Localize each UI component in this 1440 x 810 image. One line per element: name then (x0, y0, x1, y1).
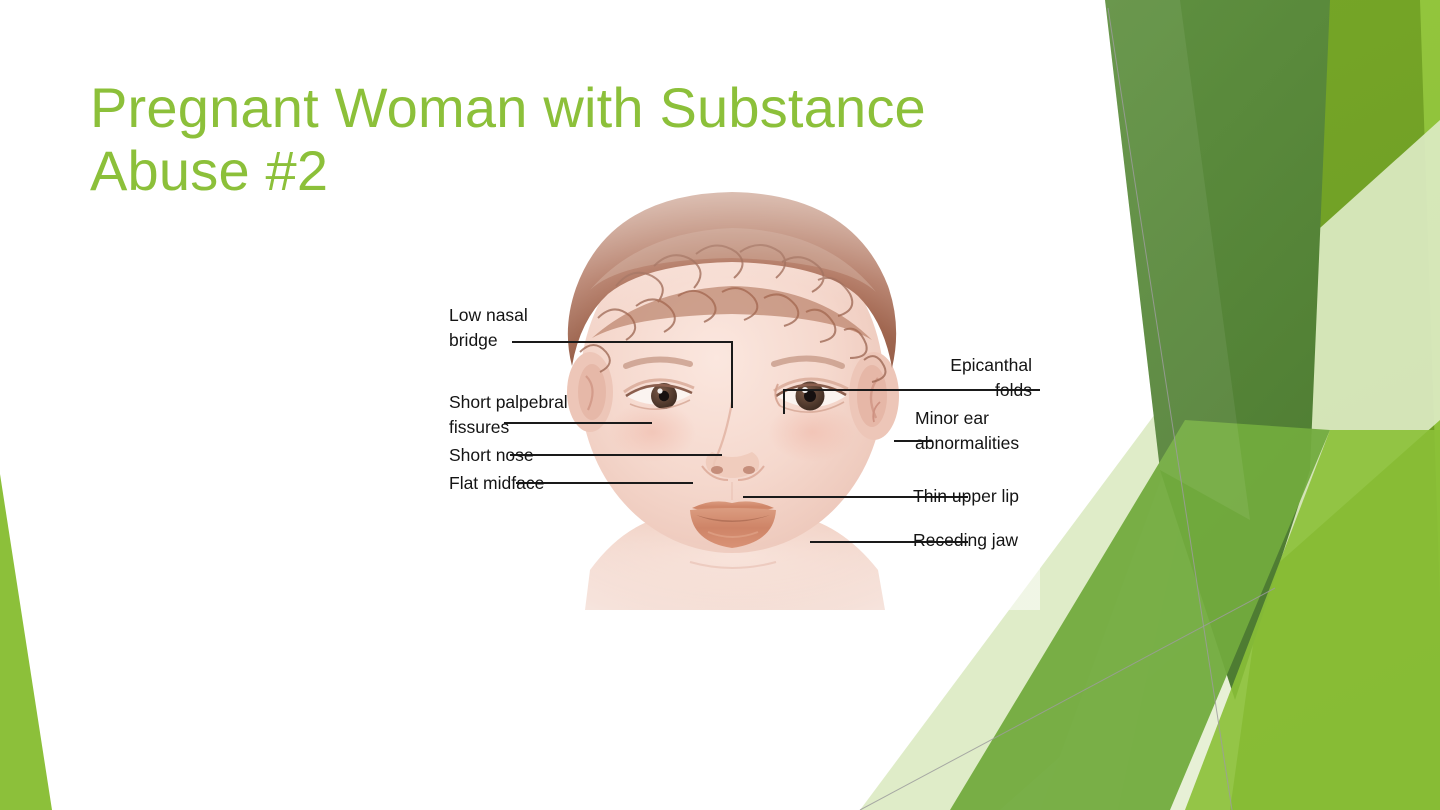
deco-shape-right-bright-far (1196, 0, 1440, 810)
label-receding-jaw: Receding jaw (913, 528, 1083, 553)
label-thin-upper-lip: Thin upper lip (913, 484, 1083, 509)
label-epicanthal-folds: Epicanthal folds (880, 353, 1032, 403)
deco-shape-right-mid (1118, 0, 1440, 810)
label-minor-ear-abnormalities: Minor ear abnormalities (915, 406, 1085, 456)
deco-shape-dark-highlight (1105, 0, 1250, 520)
title-block: Pregnant Woman with Substance Abuse #2 (90, 76, 1020, 203)
deco-shape-lower-bright (1185, 430, 1440, 810)
label-short-nose: Short nose (449, 443, 599, 468)
label-short-palpebral-fissures: Short palpebral fissures (449, 390, 619, 440)
page-title: Pregnant Woman with Substance Abuse #2 (90, 76, 1020, 203)
label-low-nasal-bridge: Low nasal bridge (449, 303, 599, 353)
deco-wedge-bottom-left (0, 474, 52, 810)
deco-hairline-top-right (1108, 8, 1232, 810)
label-flat-midface: Flat midface (449, 471, 599, 496)
slide-canvas: Pregnant Woman with Substance Abuse #2 (0, 0, 1440, 810)
deco-hairline-diagonal (860, 588, 1275, 810)
deco-shape-right-dark (1105, 0, 1330, 700)
